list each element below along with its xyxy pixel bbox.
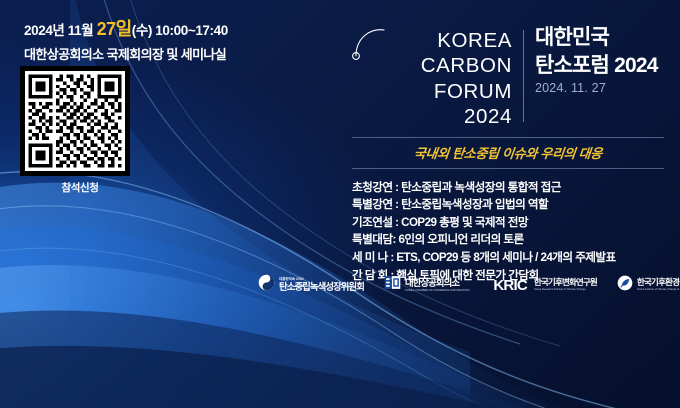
program-label: 특별강연 [352, 198, 392, 211]
poster-canvas: 2024년 11월 27일(수) 10:00~17:40 대한상공회의소 국제회… [0, 0, 680, 408]
title-korean: 대한민국 탄소포럼 2024 2024. 11. 27 [535, 24, 664, 95]
kcci-block-icon [384, 274, 401, 296]
program-item: 세 미 나 : ETS, COP29 등 8개의 세미나 / 24개의 주제발표 [352, 249, 664, 267]
title-en-line-3: FORUM 2024 [388, 79, 512, 130]
event-venue: 대한상공회의소 국제회의장 및 세미나실 [24, 44, 324, 63]
program-item: 특별대담: 6인의 오피니언 리더의 토론 [352, 231, 664, 249]
title-date: 2024. 11. 27 [535, 81, 664, 95]
program-label: 세 미 나 [352, 251, 388, 264]
program-value: 탄소중립과 녹색성장의 통합적 접근 [401, 181, 561, 194]
qr-code-image[interactable] [20, 66, 130, 176]
program-label: 특별대담 [352, 233, 392, 246]
sponsor-logo-carbon-neutrality-committee: 대통령직속 2050 탄소중립녹색성장위원회 [258, 272, 364, 298]
program-separator: : [392, 198, 401, 211]
sponsor-logo-english: Korea Research Institute of Climate Chan… [534, 288, 594, 292]
program-item: 특별강연 : 탄소중립녹색성장과 입법의 역할 [352, 196, 664, 214]
program-label: 초청강연 [352, 181, 392, 194]
title-kr-line-2: 탄소포럼 2024 [535, 53, 664, 78]
program-item: 초청강연 : 탄소중립과 녹색성장의 통합적 접근 [352, 179, 664, 197]
sponsor-logo-name: 탄소중립녹색성장위원회 [279, 282, 364, 293]
leaf-circle-icon [617, 275, 633, 296]
title-row: KOREA CARBON FORUM 2024 대한민국 탄소포럼 2024 2… [352, 24, 664, 130]
sponsor-logo-name: 대한상공회의소 [405, 278, 473, 289]
forum-header-block: KOREA CARBON FORUM 2024 대한민국 탄소포럼 2024 2… [352, 24, 664, 284]
title-en-line-2: CARBON [388, 53, 512, 78]
qr-registration-block[interactable]: 참석신청 [20, 66, 140, 195]
taegeuk-swirl-icon [258, 274, 275, 296]
event-date-day: 27일 [97, 19, 132, 39]
sponsor-logo-english: Korea Institute of Climate Change & Envi… [637, 288, 680, 292]
qr-caption: 참석신청 [20, 180, 140, 195]
program-value: ETS, COP29 등 8개의 세미나 / 24개의 주제발표 [396, 251, 615, 264]
program-value: 6인의 오피니언 리더의 토론 [398, 233, 523, 246]
program-value: 탄소중립녹색성장과 입법의 역할 [401, 198, 548, 211]
sponsor-logo-bar: 대통령직속 2050 탄소중립녹색성장위원회 대한상공회의소 KOREA CHA… [258, 272, 668, 298]
sponsor-logo-kcci: 대한상공회의소 KOREA CHAMBER OF COMMERCE AND IN… [384, 272, 473, 298]
title-english: KOREA CARBON FORUM 2024 [388, 24, 512, 130]
program-value: COP29 총평 및 국제적 전망 [401, 216, 528, 229]
title-en-line-1: KOREA [388, 28, 512, 53]
program-separator: : [392, 181, 401, 194]
title-divider [523, 30, 524, 122]
title-kr-line-1: 대한민국 [535, 26, 664, 51]
sponsor-logo-kice: 한국기후환경원 Korea Institute of Climate Chang… [617, 272, 680, 298]
event-date: 2024년 11월 27일(수) 10:00~17:40 [24, 18, 324, 41]
program-list: 초청강연 : 탄소중립과 녹색성장의 통합적 접근 특별강연 : 탄소중립녹색성… [352, 179, 664, 285]
program-label: 기조연설 [352, 216, 392, 229]
event-date-suffix: (수) 10:00~17:40 [132, 23, 228, 38]
kric-wordmark-icon: KRIC [493, 278, 526, 293]
event-date-prefix: 2024년 11월 [24, 23, 97, 38]
program-separator: : [392, 216, 401, 229]
event-info-block: 2024년 11월 27일(수) 10:00~17:40 대한상공회의소 국제회… [24, 18, 324, 63]
tagline: 국내외 탄소중립 이슈와 우리의 대응 [350, 138, 665, 168]
program-item: 기조연설 : COP29 총평 및 국제적 전망 [352, 214, 664, 232]
arc-dot-icon [352, 24, 388, 100]
sponsor-logo-kric: KRIC 한국기후변화연구원 Korea Research Institute … [493, 272, 597, 298]
sponsor-logo-english: KOREA CHAMBER OF COMMERCE AND INDUSTRY [405, 289, 470, 293]
